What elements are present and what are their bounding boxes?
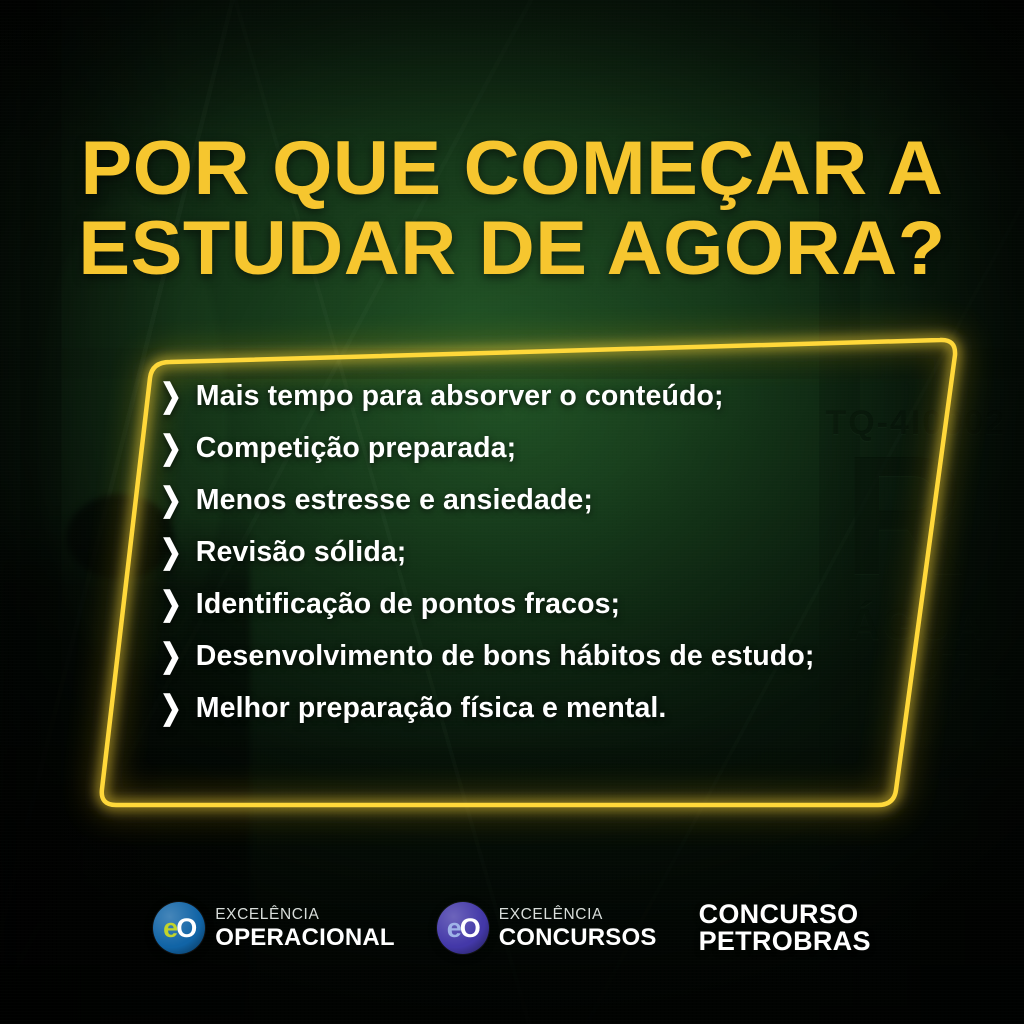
chevron-right-icon: ❯: [160, 535, 182, 568]
list-item-label: Desenvolvimento de bons hábitos de estud…: [196, 642, 815, 672]
title-line-2: ESTUDAR DE AGORA?: [39, 212, 986, 286]
eo-logo-letter-e: e: [163, 913, 176, 943]
campaign-line-2: PETROBRAS: [699, 928, 871, 956]
chevron-right-icon: ❯: [160, 431, 182, 464]
eo-logo-letters: eO: [163, 915, 195, 942]
campaign-title: CONCURSO PETROBRAS: [699, 901, 871, 956]
page-title: POR QUE COMEÇAR A ESTUDAR DE AGORA?: [0, 132, 1024, 287]
brand-excelencia-operacional: eO EXCELÊNCIA OPERACIONAL: [153, 902, 395, 954]
list-item: ❯ Desenvolvimento de bons hábitos de est…: [160, 642, 920, 672]
chevron-right-icon: ❯: [160, 690, 182, 723]
list-item: ❯ Melhor preparação física e mental.: [160, 694, 920, 724]
eo-logo-icon: eO: [153, 902, 205, 954]
list-item-label: Menos estresse e ansiedade;: [196, 486, 593, 516]
campaign-line-1: CONCURSO: [699, 901, 871, 929]
eo-logo-letter-o: O: [460, 913, 479, 943]
list-item: ❯ Revisão sólida;: [160, 538, 920, 568]
title-line-1: POR QUE COMEÇAR A: [39, 132, 986, 206]
list-item-label: Revisão sólida;: [196, 538, 407, 568]
chevron-right-icon: ❯: [160, 483, 182, 516]
brand-bottom-label: OPERACIONAL: [215, 926, 395, 950]
list-item-label: Mais tempo para absorver o conteúdo;: [196, 382, 724, 412]
eo-logo-icon: eO: [437, 902, 489, 954]
brand-top-label: EXCELÊNCIA: [215, 907, 395, 923]
eo-logo-letters: eO: [447, 915, 479, 942]
brand-top-label: EXCELÊNCIA: [499, 907, 657, 923]
brand-bottom-label: CONCURSOS: [499, 926, 657, 950]
footer-branding: eO EXCELÊNCIA OPERACIONAL eO EXCELÊNCIA …: [0, 901, 1024, 956]
brand-text: EXCELÊNCIA CONCURSOS: [499, 907, 657, 950]
chevron-right-icon: ❯: [160, 586, 182, 619]
brand-excelencia-concursos: eO EXCELÊNCIA CONCURSOS: [437, 902, 657, 954]
eo-logo-letter-o: O: [176, 913, 195, 943]
list-item: ❯ Competição preparada;: [160, 434, 920, 464]
list-item: ❯ Mais tempo para absorver o conteúdo;: [160, 382, 920, 412]
list-item: ❯ Identificação de pontos fracos;: [160, 590, 920, 620]
brand-text: EXCELÊNCIA OPERACIONAL: [215, 907, 395, 950]
list-item-label: Competição preparada;: [196, 434, 516, 464]
poster-canvas: TQ-4I0002 R ÁGUA UTIL POR QUE COMEÇAR A …: [0, 0, 1024, 1024]
list-item-label: Identificação de pontos fracos;: [196, 590, 620, 620]
list-item-label: Melhor preparação física e mental.: [196, 694, 667, 724]
chevron-right-icon: ❯: [160, 638, 182, 671]
eo-logo-letter-e: e: [447, 913, 460, 943]
list-item: ❯ Menos estresse e ansiedade;: [160, 486, 920, 516]
chevron-right-icon: ❯: [160, 379, 182, 412]
benefits-list: ❯ Mais tempo para absorver o conteúdo; ❯…: [160, 382, 920, 723]
